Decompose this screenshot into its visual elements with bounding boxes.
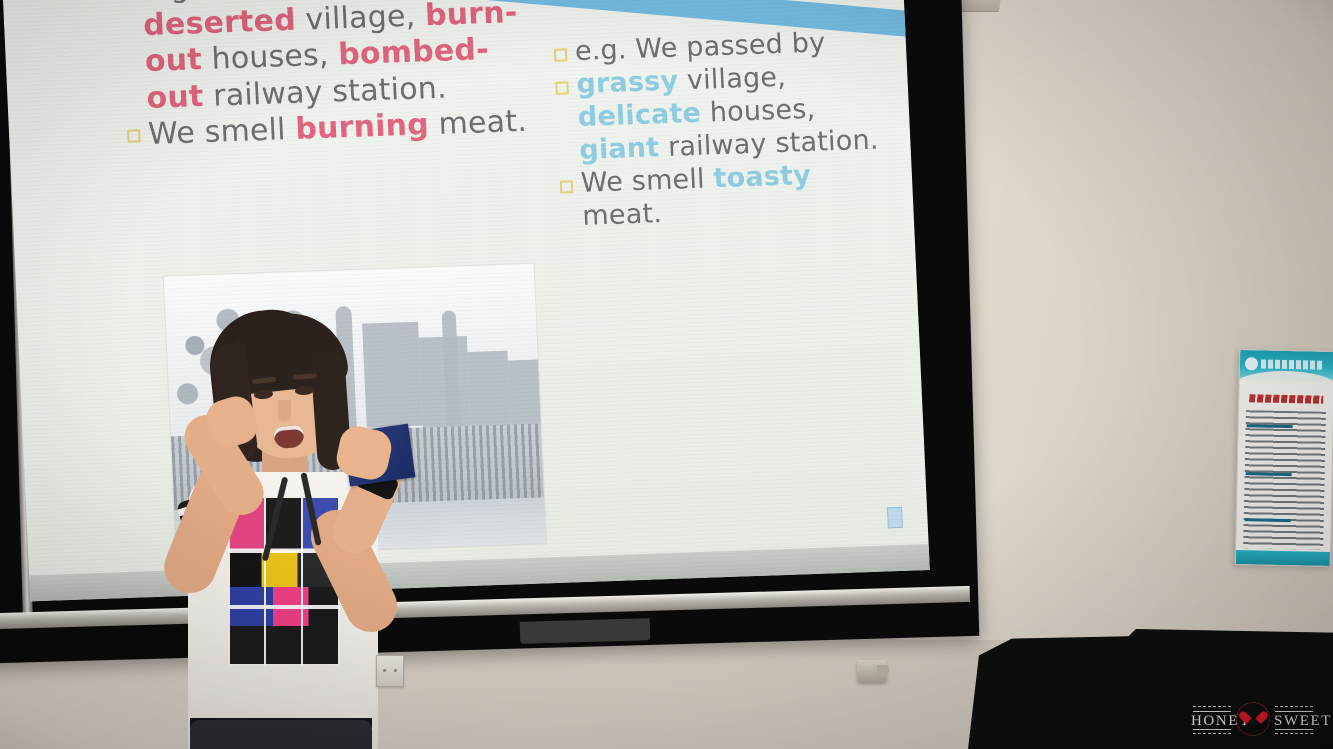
bullet-item: grassy village, delicate houses, giant r… xyxy=(555,58,889,168)
presenter xyxy=(150,300,450,749)
watermark-right-decoration: SWEET xyxy=(1273,702,1315,736)
photo-scene: e.g. We passed by deserted village, burn… xyxy=(0,0,1333,749)
wall-mount-bracket xyxy=(857,660,887,682)
bullet-square-icon xyxy=(127,130,141,143)
nose xyxy=(278,400,291,422)
chinese-notice-poster xyxy=(1235,349,1333,567)
watermark-rule-line xyxy=(1275,729,1313,730)
poster-footer-band xyxy=(1236,550,1330,566)
wall-socket-plate[interactable] xyxy=(376,655,404,687)
blackboard-chalk-tray xyxy=(520,618,651,644)
heart-icon xyxy=(1246,712,1261,726)
poster-body-text xyxy=(1243,410,1326,550)
projection-screen[interactable]: e.g. We passed by deserted village, burn… xyxy=(2,0,930,601)
photo-building xyxy=(508,360,541,429)
watermark-dash-line xyxy=(1275,706,1313,707)
heart-icon-circle xyxy=(1236,702,1270,736)
bullet-square-icon xyxy=(555,81,569,94)
watermark-rule-line xyxy=(1193,729,1231,730)
slide-left-column: e.g. We passed by deserted village, burn… xyxy=(120,0,528,155)
jeans xyxy=(190,720,372,749)
bullet-item: e.g. We passed by deserted village, burn… xyxy=(120,0,526,118)
bullet-item: We smell toasty meat. xyxy=(559,157,892,234)
watermark-left-decoration: HONEY xyxy=(1191,702,1233,736)
photo-building xyxy=(467,351,510,428)
watermark-dash-line xyxy=(1193,733,1231,734)
watermark-rule-line xyxy=(1275,711,1313,712)
watermark-dash-line xyxy=(1193,706,1231,707)
watermark: HONEY SWEET xyxy=(1186,698,1320,740)
slide-left-line-1: e.g. We passed by deserted village, burn… xyxy=(141,0,526,117)
slide-right-column: e.g. We passed by grassy village, delica… xyxy=(553,25,892,234)
bullet-square-icon xyxy=(560,180,574,193)
slide-nav-marker[interactable] xyxy=(887,507,903,529)
poster-title-text xyxy=(1249,394,1323,404)
slide-surface[interactable]: e.g. We passed by deserted village, burn… xyxy=(2,0,930,601)
bullet-square-icon xyxy=(554,48,568,61)
slide-right-line-3: We smell toasty meat. xyxy=(580,157,892,234)
slide-right-line-2: grassy village, delicate houses, giant r… xyxy=(576,58,889,167)
poster-header-text xyxy=(1261,359,1323,369)
watermark-rule-line xyxy=(1193,711,1231,712)
watermark-right-word: SWEET xyxy=(1274,713,1332,730)
watermark-dash-line xyxy=(1275,733,1313,734)
